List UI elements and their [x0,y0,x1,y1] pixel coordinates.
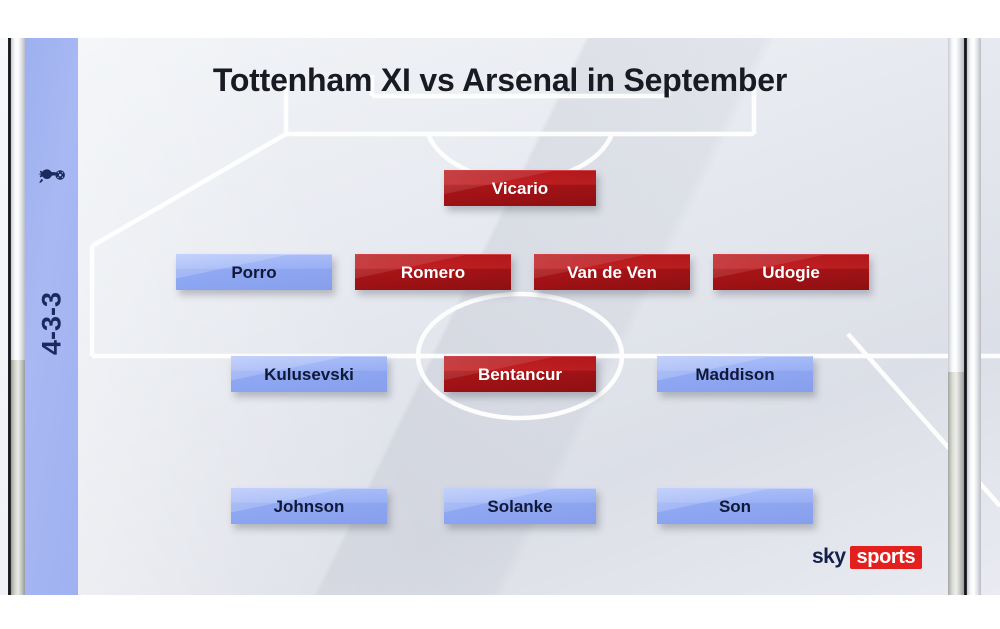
player-pill[interactable]: Solanke [444,488,596,524]
panel-edge-right-tint [948,372,964,595]
player-pill[interactable]: Vicario [444,170,596,206]
player-pill[interactable]: Bentancur [444,356,596,392]
player-pill[interactable]: Kulusevski [231,356,387,392]
player-pill[interactable]: Udogie [713,254,869,290]
player-pill[interactable]: Romero [355,254,511,290]
tottenham-cockerel-icon [35,158,69,192]
broadcast-graphic-screen: Tottenham XI vs Arsenal in September [0,0,1000,629]
player-pill[interactable]: Porro [176,254,332,290]
sky-wordmark: sky [812,546,846,568]
formation-label: 4-3-3 [36,292,67,355]
player-pill[interactable]: Van de Ven [534,254,690,290]
panel-edge-left-tint [11,360,25,595]
player-pill[interactable]: Johnson [231,488,387,524]
player-pill[interactable]: Maddison [657,356,813,392]
sky-sports-logo: sky sports [812,546,922,568]
page-title: Tottenham XI vs Arsenal in September [0,62,1000,99]
panel-edge-right-silver-outer [967,38,981,595]
player-pill[interactable]: Son [657,488,813,524]
sports-wordmark: sports [850,546,923,569]
team-sidebar: 4-3-3 [25,38,78,595]
